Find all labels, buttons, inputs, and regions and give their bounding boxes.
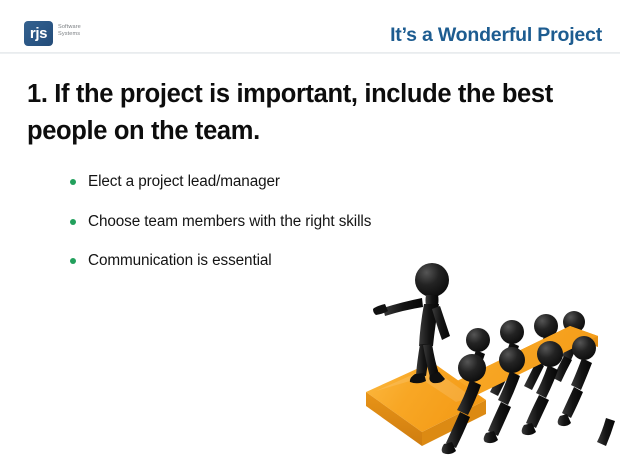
leader-pointing-arm [383,298,423,316]
logo-wordmark: Software Systems [58,21,81,37]
leader-neck [426,295,439,305]
list-item-label: Choose team members with the right skill… [88,213,371,230]
list-item-label: Elect a project lead/manager [88,173,280,190]
follower-head [458,354,486,382]
follower-head [466,328,490,352]
follower-leg [526,395,549,428]
bullet-dot-icon [70,219,76,225]
follower-head [537,341,563,367]
follower-figure [484,347,525,443]
team-arrow-illustration [360,250,620,465]
list-item: Elect a project lead/manager [68,172,488,192]
slide-header: rjs Software Systems It’s a Wonderful Pr… [0,0,620,53]
follower-head [499,347,525,373]
leader-figure [373,263,450,383]
slide: rjs Software Systems It’s a Wonderful Pr… [0,0,620,465]
rjs-logo: rjs Software Systems [24,21,81,46]
list-item-label: Communication is essential [88,252,272,269]
leader-head [415,263,449,297]
trailing-figure-leg [597,418,615,446]
team-arrow-graphic [360,250,620,465]
follower-leg [597,418,615,446]
deck-title: It’s a Wonderful Project [390,24,602,47]
bullet-dot-icon [70,258,76,264]
follower-head [500,320,524,344]
follower-leg [562,387,583,418]
bullet-dot-icon [70,179,76,185]
header-divider [0,52,620,54]
slide-heading: 1. If the project is important, include … [27,76,572,150]
logo-mark: rjs [24,21,53,46]
follower-torso [571,358,592,390]
follower-leg [488,402,511,436]
logo-wordmark-line-1: Software [58,24,81,31]
list-item: Choose team members with the right skill… [68,212,488,232]
logo-wordmark-line-2: Systems [58,31,81,38]
follower-head [572,336,596,360]
